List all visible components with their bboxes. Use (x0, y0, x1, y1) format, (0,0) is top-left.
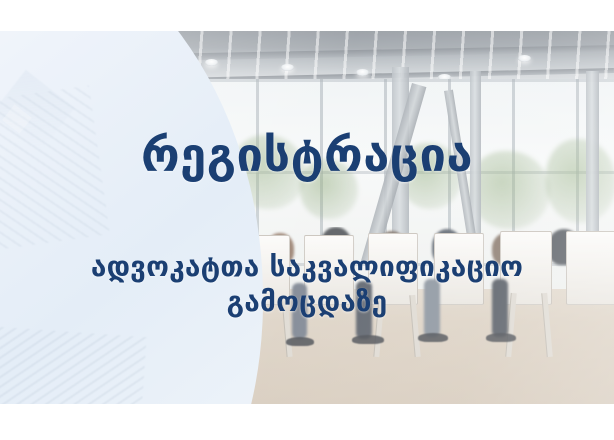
spot-light-icon (518, 55, 531, 62)
top-white-band (0, 0, 614, 31)
chair (304, 235, 354, 305)
foliage (400, 143, 462, 209)
bottom-white-band (0, 404, 614, 440)
chair-leg (281, 297, 292, 357)
person-legs (424, 279, 440, 337)
registration-banner: რეგისტრაცია ადვოკატთა საკვალიფიკაციო გამ… (0, 0, 614, 440)
foliage (470, 151, 550, 229)
chair (566, 231, 614, 305)
chair-leg (409, 295, 420, 357)
foliage (546, 139, 614, 223)
chair (368, 233, 418, 305)
spot-light-icon (281, 64, 294, 71)
chair (434, 233, 484, 305)
person-legs (492, 279, 508, 337)
spot-light-icon (356, 69, 369, 76)
photo-stage (0, 31, 614, 404)
foliage (300, 159, 358, 219)
person-legs (356, 281, 372, 339)
shoe (286, 337, 314, 346)
spot-light-icon (205, 59, 218, 66)
shoe (418, 333, 448, 342)
person-legs (292, 283, 307, 339)
shoe (486, 333, 516, 342)
shoe (352, 335, 384, 344)
